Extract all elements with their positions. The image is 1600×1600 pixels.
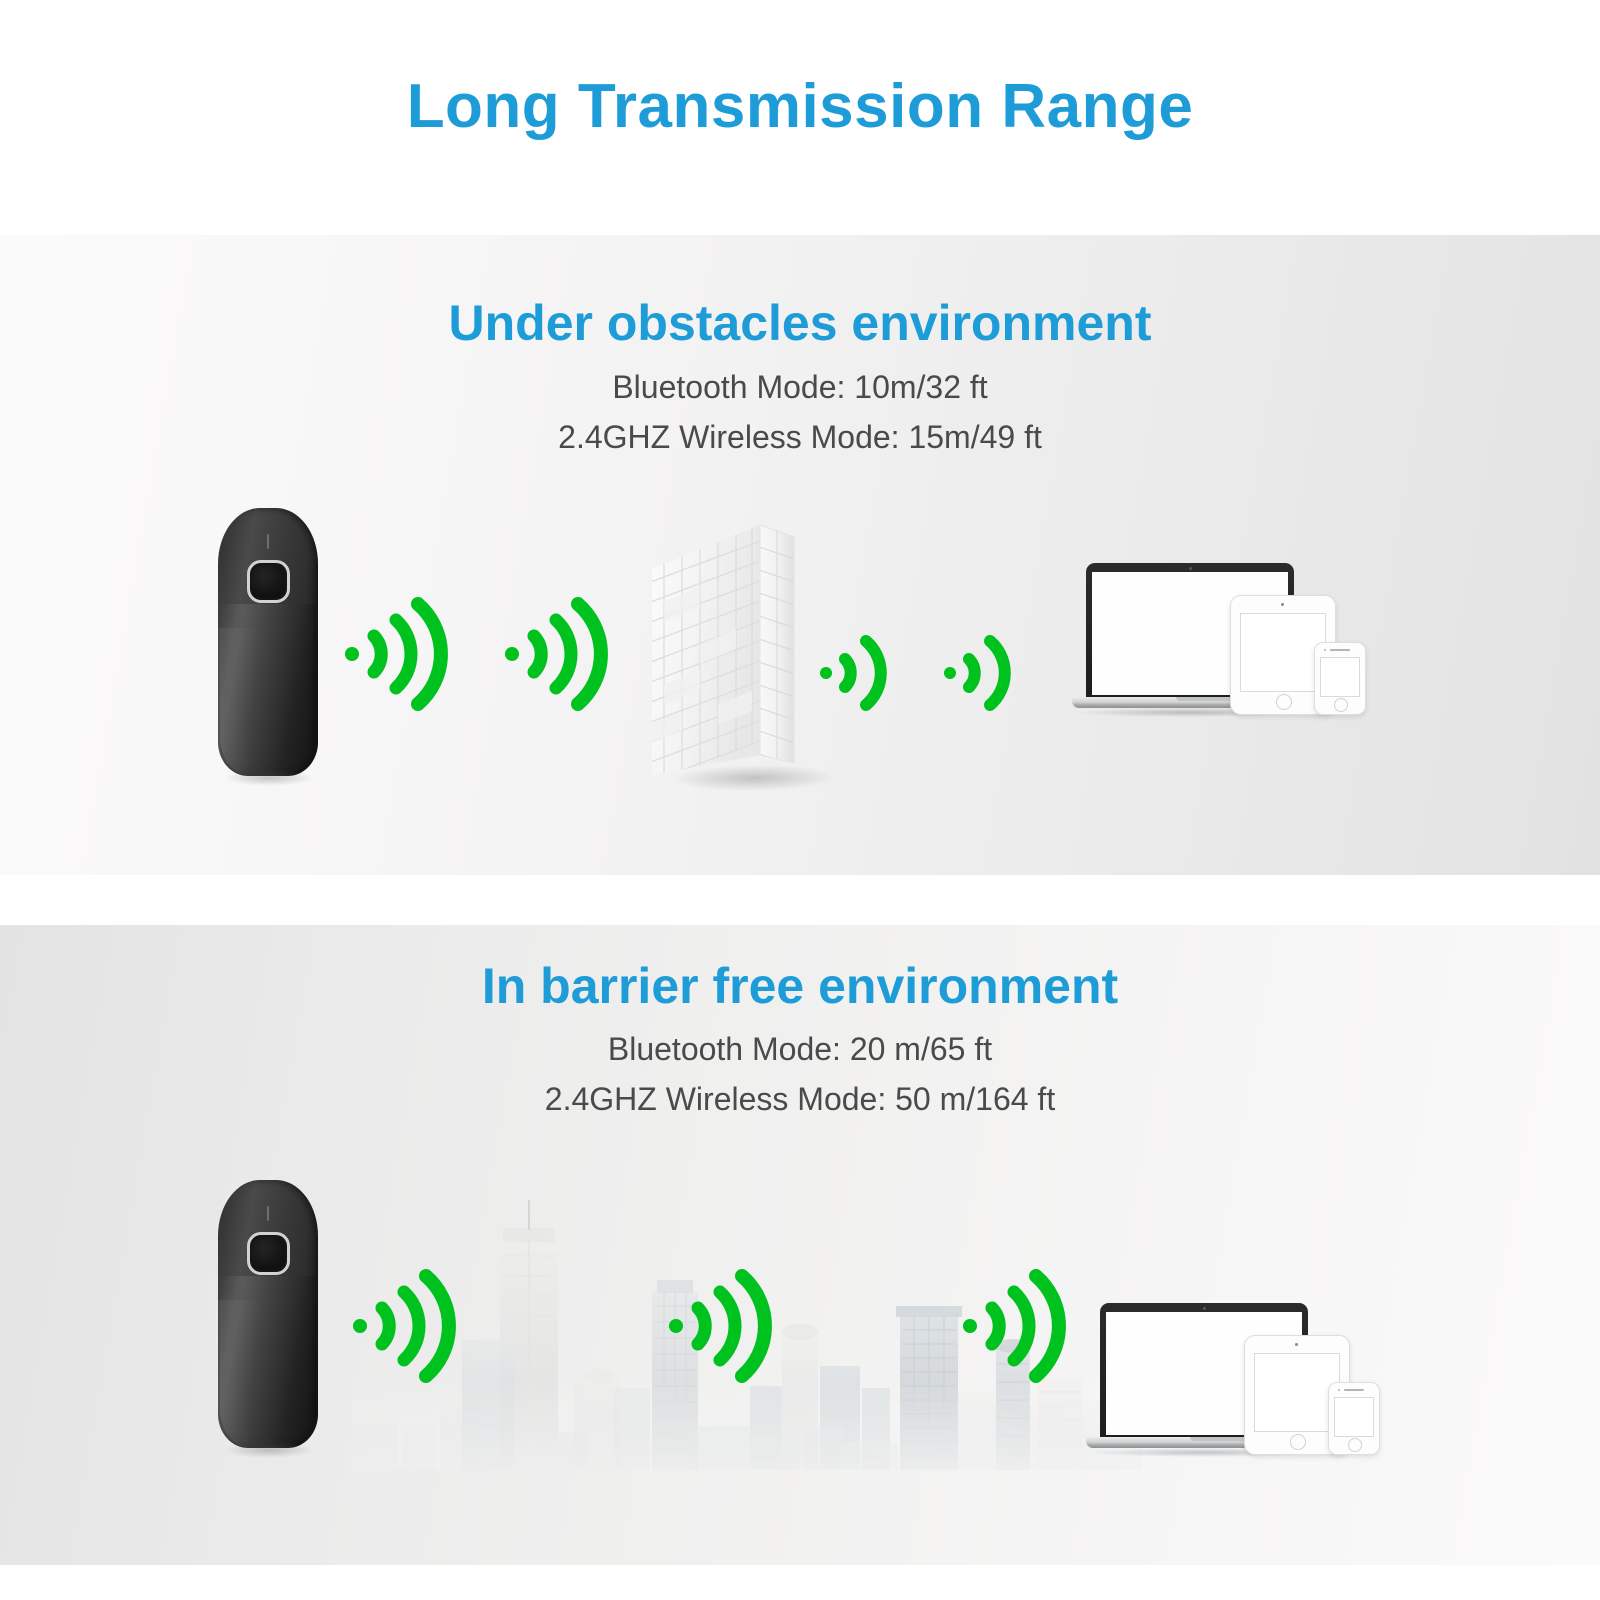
phone-screen	[1320, 657, 1360, 697]
phone-screen	[1334, 1397, 1374, 1437]
signal-waves-icon-2	[668, 1270, 772, 1382]
laptop-trackpad-notch	[1176, 697, 1232, 701]
signal-waves-icon-2	[504, 598, 608, 710]
scanner-drop-shadow	[224, 770, 314, 786]
scanner-trigger-button	[252, 1237, 285, 1270]
signal-waves-icon-4	[944, 633, 1022, 713]
laptop-camera-icon	[1189, 567, 1192, 570]
spec-list-under-obstacles: Bluetooth Mode: 10m/32 ft 2.4GHZ Wireles…	[0, 363, 1600, 462]
tablet-home-button	[1276, 694, 1292, 710]
laptop-trackpad-notch	[1190, 1437, 1246, 1441]
section-heading-barrier-free: In barrier free environment	[0, 960, 1600, 1013]
tablet-home-button	[1290, 1434, 1306, 1450]
scanner-led-indicator	[267, 534, 269, 549]
section-under-obstacles: Under obstacles environment Bluetooth Mo…	[0, 235, 1600, 875]
spec-wireless-mode: 2.4GHZ Wireless Mode: 50 m/164 ft	[0, 1075, 1600, 1125]
signal-waves-icon-1	[352, 1270, 456, 1382]
signal-waves-icon-3	[820, 633, 898, 713]
phone-device	[1328, 1382, 1380, 1455]
phone-device	[1314, 642, 1366, 715]
scanner-led-indicator	[267, 1206, 269, 1221]
phone-speaker-icon	[1344, 1389, 1364, 1391]
brick-wall-obstacle	[648, 507, 848, 802]
section-heading-under-obstacles: Under obstacles environment	[0, 297, 1600, 350]
scanner-drop-shadow	[224, 1442, 314, 1458]
laptop-camera-icon	[1203, 1307, 1206, 1310]
spec-list-barrier-free: Bluetooth Mode: 20 m/65 ft 2.4GHZ Wirele…	[0, 1025, 1600, 1124]
phone-home-button	[1334, 698, 1348, 712]
scanner-trigger-button	[252, 565, 285, 598]
brick-wall-graphic	[648, 507, 848, 797]
spec-bluetooth-mode: Bluetooth Mode: 10m/32 ft	[0, 363, 1600, 413]
page-title: Long Transmission Range	[0, 74, 1600, 139]
tablet-camera-icon	[1281, 603, 1284, 606]
phone-camera-icon	[1324, 649, 1326, 651]
signal-waves-icon-3	[962, 1270, 1066, 1382]
scanner-edge-highlight	[216, 628, 268, 778]
phone-speaker-icon	[1330, 649, 1350, 651]
barcode-scanner-device	[218, 508, 318, 783]
signal-waves-icon-1	[344, 598, 448, 710]
section-barrier-free: In barrier free environment Bluetooth Mo…	[0, 925, 1600, 1565]
barcode-scanner-device	[218, 1180, 318, 1455]
phone-camera-icon	[1338, 1389, 1340, 1391]
phone-home-button	[1348, 1438, 1362, 1452]
tablet-camera-icon	[1295, 1343, 1298, 1346]
spec-wireless-mode: 2.4GHZ Wireless Mode: 15m/49 ft	[0, 413, 1600, 463]
scanner-edge-highlight	[216, 1300, 268, 1450]
spec-bluetooth-mode: Bluetooth Mode: 20 m/65 ft	[0, 1025, 1600, 1075]
